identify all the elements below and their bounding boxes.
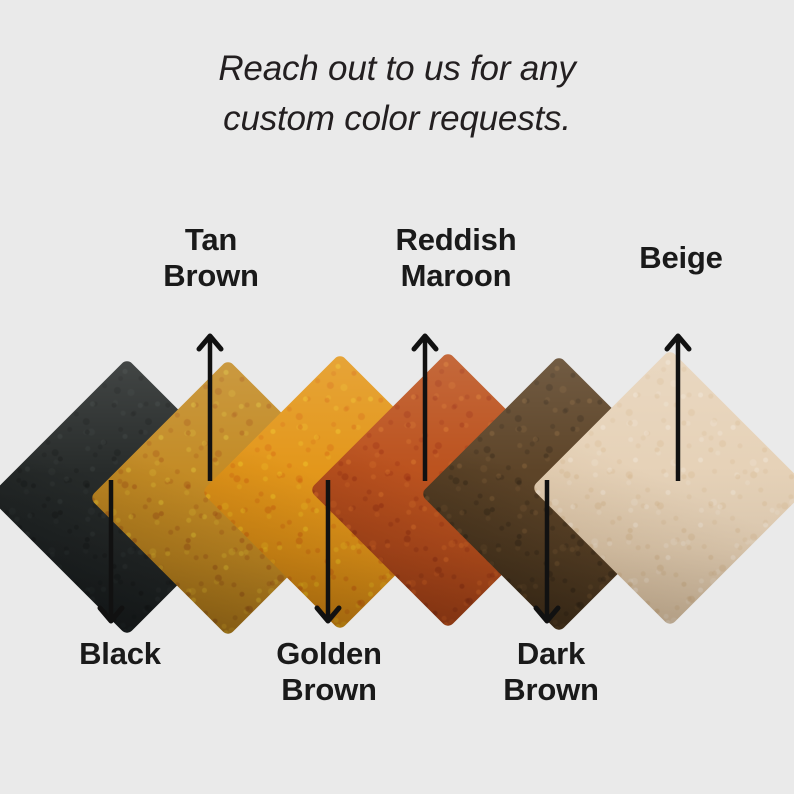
swatch-label-black: Black: [16, 636, 224, 672]
swatch-label-reddish-maroon: Reddish Maroon: [363, 222, 549, 294]
swatch-field: BlackTan BrownGolden BrownReddish Maroon…: [0, 0, 794, 794]
arrow-tan-brown-up: [197, 335, 223, 483]
arrow-black-down: [98, 478, 124, 622]
arrow-beige-up: [665, 335, 691, 483]
swatch-label-beige: Beige: [588, 240, 774, 276]
swatch-label-tan-brown: Tan Brown: [118, 222, 304, 294]
arrow-golden-brown-down: [315, 478, 341, 622]
arrow-dark-brown-down: [534, 478, 560, 622]
swatch-label-dark-brown: Dark Brown: [458, 636, 644, 708]
arrow-reddish-maroon-up: [412, 335, 438, 483]
swatch-label-golden-brown: Golden Brown: [233, 636, 425, 708]
color-swatch-infographic: Reach out to us for any custom color req…: [0, 0, 794, 794]
